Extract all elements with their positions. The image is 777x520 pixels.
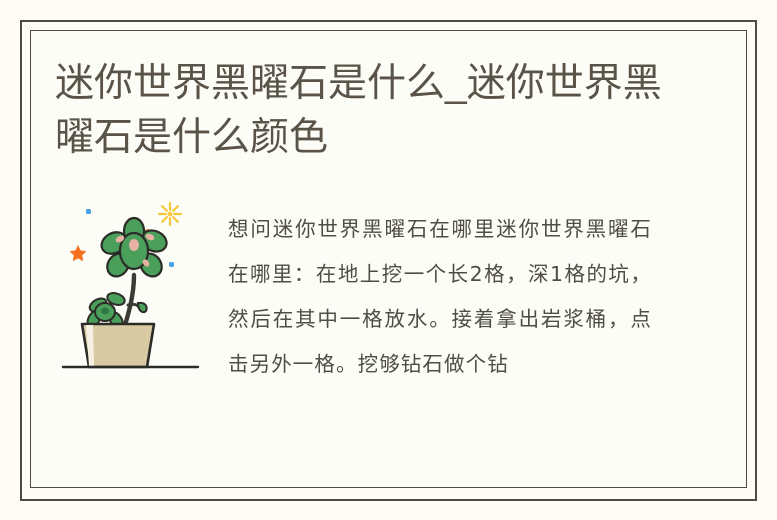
yellow-sunburst	[159, 203, 181, 225]
article-body: 想问迷你世界黑曜石在哪里迷你世界黑曜石在哪里：在地上挖一个长2格，深1格的坑，然…	[228, 207, 652, 387]
page-content: 迷你世界黑曜石是什么_迷你世界黑曜石是什么颜色	[0, 0, 777, 520]
orange-star	[70, 245, 87, 261]
potted-plant-illustration	[58, 193, 210, 371]
article-page: 迷你世界黑曜石是什么_迷你世界黑曜石是什么颜色	[0, 0, 777, 520]
blue-dot-right	[169, 262, 174, 267]
plant-rosette-highlights	[101, 307, 109, 314]
blue-dot-top-left	[86, 209, 91, 214]
plant-stem-sprout-leaf	[138, 303, 147, 312]
page-title: 迷你世界黑曜石是什么_迷你世界黑曜石是什么颜色	[55, 57, 675, 165]
